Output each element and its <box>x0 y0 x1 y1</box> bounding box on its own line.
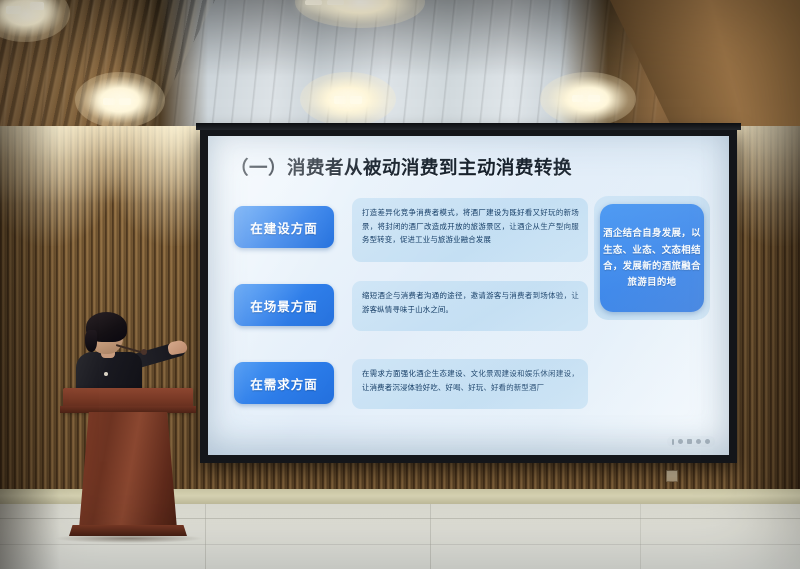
pen-icon[interactable] <box>672 439 674 445</box>
projection-screen: （一）消费者从被动消费到主动消费转换 在建设方面 打造差异化竞争消费者模式，将酒… <box>208 136 729 455</box>
ceiling-light-fixture <box>334 96 346 104</box>
microphone-icon <box>141 349 147 355</box>
slide-row: 在建设方面 打造差异化竞争消费者模式，将酒厂建设为既好看又好玩的新场景，将封闭的… <box>234 198 592 266</box>
ceiling-light-fixture <box>572 95 584 102</box>
ceiling-light-glow <box>300 72 396 126</box>
presentation-room-photo: （一）消费者从被动消费到主动消费转换 在建设方面 打造差异化竞争消费者模式，将酒… <box>0 0 800 569</box>
slide-row: 在需求方面 在需求方面强化酒企生态建设、文化景观建设和娱乐休闲建设，让消费者沉浸… <box>234 354 592 422</box>
wall-outlet <box>666 470 678 482</box>
ceiling-light-fixture <box>305 0 322 5</box>
speaker-lapel-badge <box>104 372 108 376</box>
floor-seam <box>205 504 206 569</box>
ceiling <box>0 0 800 128</box>
slide-row-tag: 在需求方面 <box>234 362 334 404</box>
podium-lip <box>60 406 196 413</box>
hand-icon[interactable] <box>678 439 683 444</box>
slide-rows: 在建设方面 打造差异化竞争消费者模式，将酒厂建设为既好看又好玩的新场景，将封闭的… <box>234 198 592 432</box>
ceiling-light-fixture <box>588 95 600 102</box>
slide-title: （一）消费者从被动消费到主动消费转换 <box>230 154 572 180</box>
wall-shadow-right <box>730 126 800 496</box>
ceiling-light-fixture <box>119 98 131 105</box>
slide-row: 在场景方面 缩短酒企与消费者沟通的途径，邀请游客与消费者到场体验，让游客纵情寻味… <box>234 276 592 344</box>
ceiling-light-fixture <box>327 0 344 5</box>
floor-seam <box>0 544 800 545</box>
slide-row-text: 打造差异化竞争消费者模式，将酒厂建设为既好看又好玩的新场景，将封闭的酒厂改造成开… <box>352 198 588 262</box>
slide-row-tag: 在场景方面 <box>234 284 334 326</box>
slide-callout-text: 酒企结合自身发展，以生态、业态、文态相结合，发展新的酒旅融合旅游目的地 <box>600 225 704 291</box>
podium-column <box>79 412 177 529</box>
floor-seam <box>430 504 431 569</box>
ceiling-light-fixture <box>350 96 362 104</box>
podium-shadow <box>56 534 202 543</box>
pointer-icon[interactable] <box>687 439 692 444</box>
speaker-hair <box>85 330 97 352</box>
ceiling-light-fixture <box>6 6 21 14</box>
laser-icon[interactable] <box>696 439 701 444</box>
slide-callout-box: 酒企结合自身发展，以生态、业态、文态相结合，发展新的酒旅融合旅游目的地 <box>600 204 704 312</box>
presentation-toolbar[interactable] <box>667 436 715 447</box>
slide-row-text: 在需求方面强化酒企生态建设、文化景观建设和娱乐休闲建设，让消费者沉浸体验好吃、好… <box>352 359 588 409</box>
ceiling-light-fixture <box>103 98 115 105</box>
slide-row-text: 缩短酒企与消费者沟通的途径，邀请游客与消费者到场体验，让游客纵情寻味于山水之间。 <box>352 281 588 331</box>
ceiling-light-fixture <box>30 2 44 10</box>
slide-row-tag: 在建设方面 <box>234 206 334 248</box>
menu-icon[interactable] <box>705 439 710 444</box>
floor-seam <box>640 504 641 569</box>
